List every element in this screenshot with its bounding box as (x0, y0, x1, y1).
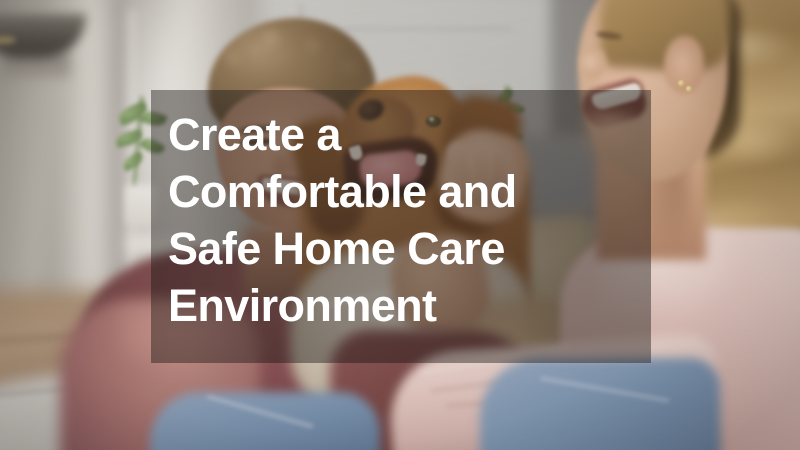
page-title: Create a Comfortable and Safe Home Care … (168, 106, 651, 334)
woman-earring (686, 86, 692, 92)
man-jeans-right (480, 358, 720, 450)
hero-banner: Create a Comfortable and Safe Home Care … (0, 0, 800, 450)
headline-scrim: Create a Comfortable and Safe Home Care … (151, 90, 651, 363)
man-jeans-left (150, 392, 380, 450)
woman-earring (678, 80, 685, 87)
